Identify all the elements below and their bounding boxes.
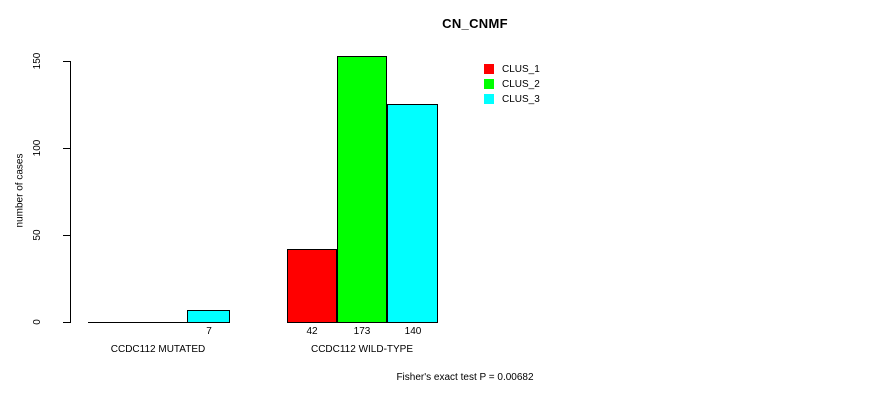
y-axis-title: number of cases: [15, 136, 26, 246]
bar-value-wildtype-clus3: 140: [393, 326, 433, 337]
bar-value-wildtype-clus2: 173: [342, 326, 382, 337]
bar-wildtype-clus1[interactable]: [287, 249, 337, 323]
legend-swatch-clus3-icon: [484, 94, 494, 104]
legend-item-clus3[interactable]: CLUS_3: [484, 92, 540, 106]
bar-wildtype-clus3[interactable]: [387, 104, 438, 323]
bar-wildtype-clus2[interactable]: [337, 56, 387, 323]
y-tick-label-0: 0: [33, 302, 43, 342]
bar-mutated-clus3[interactable]: [187, 310, 230, 323]
legend-label-clus3: CLUS_3: [502, 94, 540, 105]
statistical-test-annotation: Fisher's exact test P = 0.00682: [0, 372, 890, 383]
legend-label-clus1: CLUS_1: [502, 64, 540, 75]
y-tick-mark-0: [63, 322, 70, 323]
legend-swatch-clus1-icon: [484, 64, 494, 74]
y-tick-mark-50: [63, 235, 70, 236]
y-axis-line: [70, 61, 71, 323]
legend-item-clus2[interactable]: CLUS_2: [484, 77, 540, 91]
y-tick-label-50: 50: [33, 215, 43, 255]
legend-item-clus1[interactable]: CLUS_1: [484, 62, 540, 76]
plot-area: 0 50 100 150 number of cases 7 42 173 14…: [0, 0, 890, 400]
legend-swatch-clus2-icon: [484, 79, 494, 89]
group-label-mutated: CCDC112 MUTATED: [58, 344, 258, 355]
y-tick-mark-150: [63, 61, 70, 62]
group-0-baseline: [88, 322, 187, 323]
bar-value-wildtype-clus1: 42: [292, 326, 332, 337]
statistical-test-text: Fisher's exact test P = 0.00682: [396, 372, 533, 383]
group-label-wildtype: CCDC112 WILD-TYPE: [262, 344, 462, 355]
y-tick-mark-100: [63, 148, 70, 149]
y-tick-label-150: 150: [33, 41, 43, 81]
legend: CLUS_1 CLUS_2 CLUS_3: [484, 62, 540, 107]
legend-label-clus2: CLUS_2: [502, 79, 540, 90]
y-tick-label-100: 100: [33, 128, 43, 168]
bar-value-mutated-clus3: 7: [189, 326, 229, 337]
